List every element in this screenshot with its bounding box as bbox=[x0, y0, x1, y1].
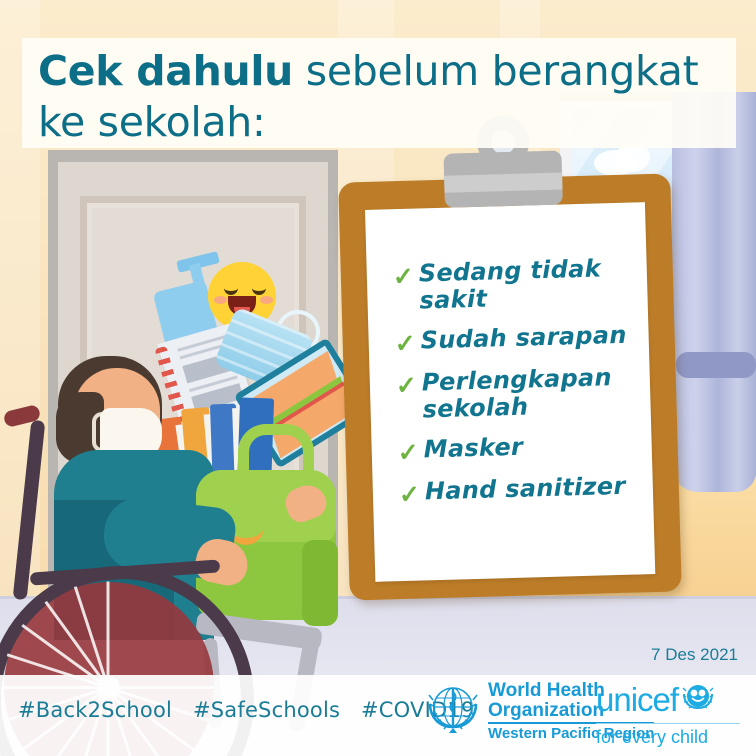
title-rest: sebelum berangkat bbox=[293, 47, 698, 95]
checklist-item: ✓ Perlengkapan sekolah bbox=[395, 363, 646, 424]
checklist-item-label: Hand sanitizer bbox=[425, 472, 626, 504]
check-icon: ✓ bbox=[393, 265, 420, 291]
check-icon: ✓ bbox=[399, 482, 426, 508]
curtain bbox=[672, 92, 756, 492]
clipboard-clip-band bbox=[444, 172, 562, 192]
check-icon: ✓ bbox=[396, 373, 423, 399]
checklist-item-label: Sedang tidak sakit bbox=[418, 254, 643, 314]
page-title: Cek dahulu sebelum berangkat ke sekolah: bbox=[38, 46, 738, 148]
unicef-divider bbox=[596, 723, 740, 724]
checklist-item: ✓ Hand sanitizer bbox=[399, 472, 650, 508]
infographic-poster: ✓ Sedang tidak sakit ✓ Sudah sarapan ✓ P… bbox=[0, 0, 756, 756]
checklist: ✓ Sedang tidak sakit ✓ Sudah sarapan ✓ P… bbox=[392, 254, 649, 520]
unicef-emblem-icon bbox=[681, 680, 715, 719]
unicef-tagline: for every child bbox=[596, 727, 746, 748]
title-line2: ke sekolah: bbox=[38, 98, 266, 146]
curtain-tieback bbox=[676, 352, 756, 378]
checklist-item: ✓ Sudah sarapan bbox=[394, 321, 645, 357]
hashtag[interactable]: #SafeSchools bbox=[193, 698, 340, 722]
check-icon: ✓ bbox=[397, 440, 424, 466]
hashtag[interactable]: #Back2School bbox=[18, 698, 172, 722]
who-emblem-icon bbox=[424, 680, 482, 743]
title-bold: Cek dahulu bbox=[38, 47, 293, 95]
emoji-blush bbox=[260, 296, 273, 304]
checklist-item-label: Perlengkapan sekolah bbox=[421, 363, 646, 423]
clipboard: ✓ Sedang tidak sakit ✓ Sudah sarapan ✓ P… bbox=[338, 173, 682, 600]
emoji-blush bbox=[214, 296, 227, 304]
checklist-item-label: Sudah sarapan bbox=[420, 321, 627, 354]
date-label: 7 Des 2021 bbox=[651, 645, 738, 665]
hashtag-list: #Back2School #SafeSchools #COVID19 bbox=[18, 698, 489, 722]
backpack-side-pocket bbox=[302, 540, 338, 626]
unicef-wordmark: unicef bbox=[596, 683, 678, 716]
unicef-wordmark-row: unicef bbox=[596, 680, 746, 719]
checklist-item: ✓ Masker bbox=[397, 430, 648, 466]
check-icon: ✓ bbox=[394, 331, 421, 357]
checklist-item: ✓ Sedang tidak sakit bbox=[392, 254, 643, 315]
unicef-logo: unicef for every child bbox=[596, 680, 746, 748]
checklist-item-label: Masker bbox=[423, 433, 523, 463]
